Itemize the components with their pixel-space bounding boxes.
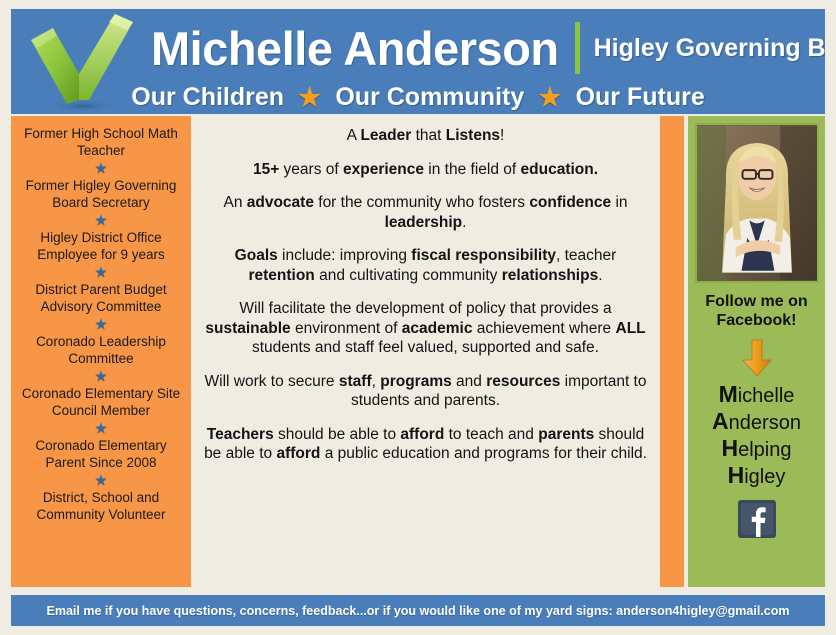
message-paragraph: Will facilitate the development of polic…	[203, 299, 648, 358]
body-text: A	[347, 127, 361, 144]
blue-star-separator: ★	[17, 368, 185, 385]
header-banner: Michelle Anderson Higley Governing Board…	[11, 9, 825, 114]
acrostic-line: Anderson	[694, 409, 819, 436]
credential-item: Coronado Elementary Site Council Member	[17, 386, 185, 419]
body-text: .	[598, 267, 602, 284]
body-text: Will facilitate the development of polic…	[239, 300, 611, 317]
credential-item: District Parent Budget Advisory Committe…	[17, 282, 185, 315]
follow-me-text: Follow me on Facebook!	[694, 292, 819, 330]
body-text: students and staff feel valued, supporte…	[252, 339, 599, 356]
portrait-illustration	[697, 125, 817, 281]
body-text: years of	[279, 161, 343, 178]
body-text: achievement where	[472, 320, 615, 337]
emphasis-text: Listens	[446, 127, 500, 144]
footer-contact-bar: Email me if you have questions, concerns…	[11, 595, 825, 626]
acrostic-block: MichelleAndersonHelpingHigley	[694, 382, 819, 490]
credentials-sidebar: Former High School Math Teacher★Former H…	[11, 116, 191, 587]
candidate-role: Higley Governing Board	[594, 34, 825, 63]
emphasis-text: fiscal responsibility	[411, 247, 556, 264]
credential-item: Coronado Elementary Parent Since 2008	[17, 438, 185, 471]
message-paragraph: Goals include: improving fiscal responsi…	[203, 246, 648, 285]
title-divider	[575, 22, 580, 74]
body-text: in	[611, 194, 627, 211]
acrostic-capital: H	[721, 435, 738, 461]
tagline-part-3: Our Future	[576, 83, 705, 112]
blue-star-separator: ★	[17, 212, 185, 229]
gold-star-icon-2: ★	[538, 84, 561, 110]
message-paragraph: Teachers should be able to afford to tea…	[203, 425, 648, 464]
body-text: An	[223, 194, 246, 211]
body-text: !	[500, 127, 504, 144]
tagline-part-2: Our Community	[335, 83, 524, 112]
campaign-flyer: Michelle Anderson Higley Governing Board…	[0, 0, 836, 635]
acrostic-rest: elping	[738, 439, 791, 461]
acrostic-rest: igley	[744, 466, 785, 488]
blue-star-separator: ★	[17, 316, 185, 333]
body-text: ,	[372, 373, 381, 390]
emphasis-text: relationships	[502, 267, 598, 284]
emphasis-text: education.	[521, 161, 599, 178]
emphasis-text: retention	[248, 267, 314, 284]
main-message-panel: A Leader that Listens!15+ years of exper…	[191, 116, 660, 587]
body-text: to teach and	[444, 426, 538, 443]
contact-email[interactable]: anderson4higley@gmail.com	[616, 604, 789, 618]
emphasis-text: experience	[343, 161, 424, 178]
emphasis-text: resources	[486, 373, 560, 390]
emphasis-text: leadership	[385, 214, 463, 231]
body-text: .	[462, 214, 466, 231]
body-text: environment of	[291, 320, 402, 337]
acrostic-capital: M	[719, 381, 738, 407]
body-text: and cultivating community	[315, 267, 502, 284]
follow-line-1: Follow me on	[694, 292, 819, 311]
emphasis-text: parents	[538, 426, 594, 443]
gold-star-icon-1: ★	[298, 84, 321, 110]
acrostic-line: Helping	[694, 436, 819, 463]
message-paragraph: A Leader that Listens!	[203, 126, 648, 146]
emphasis-text: academic	[402, 320, 473, 337]
emphasis-text: programs	[380, 373, 452, 390]
emphasis-text: Leader	[360, 127, 411, 144]
emphasis-text: Teachers	[207, 426, 274, 443]
body-text: in the field of	[424, 161, 521, 178]
candidate-name: Michelle Anderson	[151, 21, 559, 76]
social-panel: Follow me on Facebook! MichelleAndersonH…	[688, 116, 825, 587]
facebook-icon[interactable]	[738, 500, 776, 538]
credential-item: Former Higley Governing Board Secretary	[17, 178, 185, 211]
tagline: Our Children ★ Our Community ★ Our Futur…	[11, 81, 825, 113]
credential-item: District, School and Community Volunteer	[17, 490, 185, 523]
emphasis-text: 15+	[253, 161, 279, 178]
emphasis-text: staff	[339, 373, 372, 390]
body-text: that	[411, 127, 445, 144]
footer-message-text: Email me if you have questions, concerns…	[47, 604, 613, 618]
emphasis-text: advocate	[247, 194, 314, 211]
emphasis-text: afford	[400, 426, 444, 443]
acrostic-rest: nderson	[729, 412, 801, 434]
body-text: a public education and programs for thei…	[320, 445, 647, 462]
acrostic-line: Higley	[694, 463, 819, 490]
header-title-row: Michelle Anderson Higley Governing Board	[151, 17, 817, 79]
footer-message: Email me if you have questions, concerns…	[47, 604, 790, 618]
body-text: should be able to	[274, 426, 401, 443]
emphasis-text: Goals	[235, 247, 278, 264]
blue-star-separator: ★	[17, 472, 185, 489]
credential-item: Coronado Leadership Committee	[17, 334, 185, 367]
emphasis-text: afford	[276, 445, 320, 462]
acrostic-rest: ichelle	[738, 385, 795, 407]
tagline-part-1: Our Children	[131, 83, 284, 112]
message-paragraph: 15+ years of experience in the field of …	[203, 160, 648, 180]
body-text: , teacher	[556, 247, 616, 264]
candidate-photo	[695, 123, 819, 283]
body-text: include: improving	[278, 247, 412, 264]
emphasis-text: ALL	[616, 320, 646, 337]
orange-divider-stripe	[660, 116, 684, 587]
blue-star-separator: ★	[17, 160, 185, 177]
follow-line-2: Facebook!	[694, 311, 819, 330]
blue-star-separator: ★	[17, 264, 185, 281]
body-text: and	[452, 373, 486, 390]
body-columns: Former High School Math Teacher★Former H…	[11, 116, 825, 587]
body-text: for the community who fosters	[314, 194, 529, 211]
credential-item: Former High School Math Teacher	[17, 126, 185, 159]
acrostic-line: Michelle	[694, 382, 819, 409]
emphasis-text: sustainable	[205, 320, 290, 337]
body-text: Will work to secure	[205, 373, 339, 390]
message-paragraph: Will work to secure staff, programs and …	[203, 372, 648, 411]
acrostic-capital: A	[712, 408, 729, 434]
down-arrow-icon	[740, 338, 774, 378]
message-paragraph: An advocate for the community who foster…	[203, 193, 648, 232]
emphasis-text: confidence	[529, 194, 611, 211]
credential-item: Higley District Office Employee for 9 ye…	[17, 230, 185, 263]
acrostic-capital: H	[728, 462, 745, 488]
blue-star-separator: ★	[17, 420, 185, 437]
